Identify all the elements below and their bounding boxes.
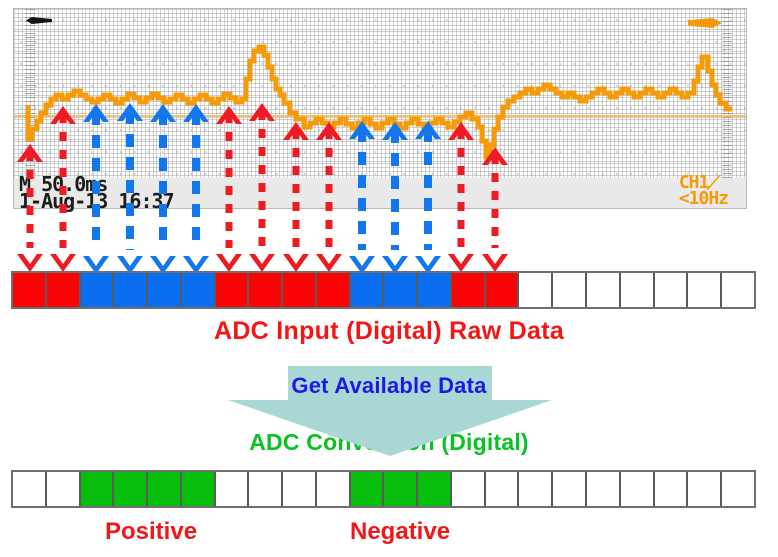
raw-data-cell	[722, 273, 754, 307]
raw-data-cell	[182, 273, 216, 307]
conversion-cell	[283, 472, 317, 506]
conversion-cell	[249, 472, 283, 506]
negative-legend-label: Negative	[350, 518, 450, 546]
conversion-cell	[81, 472, 115, 506]
raw-data-cell	[317, 273, 351, 307]
raw-data-cell	[655, 273, 689, 307]
conversion-cell	[655, 472, 689, 506]
raw-data-cell	[13, 273, 47, 307]
raw-data-cell	[519, 273, 553, 307]
raw-data-cell	[81, 273, 115, 307]
conversion-cell	[722, 472, 754, 506]
raw-data-cell	[384, 273, 418, 307]
conversion-cell	[182, 472, 216, 506]
conversion-cell	[688, 472, 722, 506]
raw-data-cell	[114, 273, 148, 307]
conversion-cell	[519, 472, 553, 506]
conversion-cell	[47, 472, 81, 506]
conversion-cell	[114, 472, 148, 506]
conversion-cell	[351, 472, 385, 506]
raw-data-cell	[587, 273, 621, 307]
conversion-cell	[553, 472, 587, 506]
conversion-cell	[384, 472, 418, 506]
get-available-data-label: Get Available Data	[0, 373, 778, 399]
conversion-cell	[418, 472, 452, 506]
scope-status-bar: M 50.0ms1-Aug-13 16:37 CH1∕<10Hz	[13, 178, 747, 209]
raw-data-cell	[621, 273, 655, 307]
conversion-cell	[452, 472, 486, 506]
conversion-cell	[486, 472, 520, 506]
adc-conversion-row	[11, 470, 756, 508]
raw-data-cell	[688, 273, 722, 307]
conversion-cell	[13, 472, 47, 506]
adc-raw-data-row	[11, 271, 756, 309]
conversion-cell	[148, 472, 182, 506]
raw-data-cell	[249, 273, 283, 307]
scope-datetime-label: 1-Aug-13 16:37	[19, 189, 174, 213]
adc-raw-data-label: ADC Input (Digital) Raw Data	[0, 317, 778, 346]
raw-data-cell	[553, 273, 587, 307]
conversion-cell	[317, 472, 351, 506]
raw-data-cell	[418, 273, 452, 307]
raw-data-cell	[47, 273, 81, 307]
raw-data-cell	[148, 273, 182, 307]
adc-sampling-diagram: M 50.0ms1-Aug-13 16:37 CH1∕<10Hz	[0, 0, 778, 557]
conversion-cell	[587, 472, 621, 506]
conversion-cell	[216, 472, 250, 506]
raw-data-cell	[351, 273, 385, 307]
raw-data-cell	[452, 273, 486, 307]
positive-legend-label: Positive	[105, 518, 197, 546]
raw-data-cell	[486, 273, 520, 307]
conversion-cell	[621, 472, 655, 506]
raw-data-cell	[216, 273, 250, 307]
raw-data-cell	[283, 273, 317, 307]
